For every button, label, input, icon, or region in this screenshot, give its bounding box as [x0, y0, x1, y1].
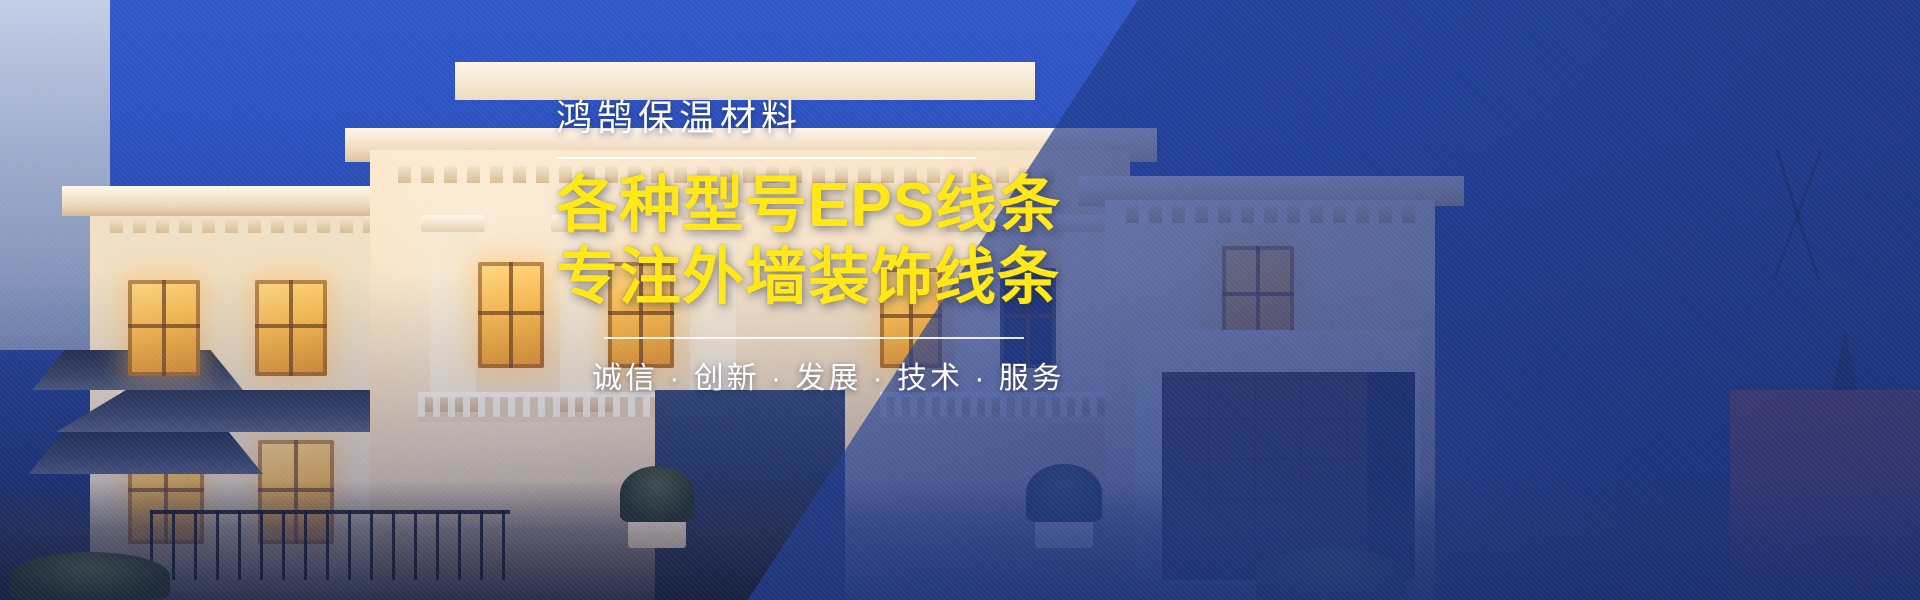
- divider-bottom: [604, 337, 1024, 339]
- hero-banner: 鸿鹄保温材料 各种型号EPS线条 专注外墙装饰线条 诚信 · 创新 · 发展 ·…: [0, 0, 1920, 600]
- headline-line-2: 专注外墙装饰线条: [556, 245, 1176, 311]
- headline-group: 各种型号EPS线条 专注外墙装饰线条: [556, 173, 1176, 310]
- banner-copy: 鸿鹄保温材料 各种型号EPS线条 专注外墙装饰线条 诚信 · 创新 · 发展 ·…: [556, 96, 1176, 397]
- tagline: 诚信 · 创新 · 发展 · 技术 · 服务: [556, 361, 1176, 397]
- tagline-group: 诚信 · 创新 · 发展 · 技术 · 服务: [556, 337, 1176, 397]
- divider-top: [556, 157, 976, 159]
- company-name: 鸿鹄保温材料: [556, 96, 1176, 139]
- headline-line-1: 各种型号EPS线条: [556, 173, 1176, 239]
